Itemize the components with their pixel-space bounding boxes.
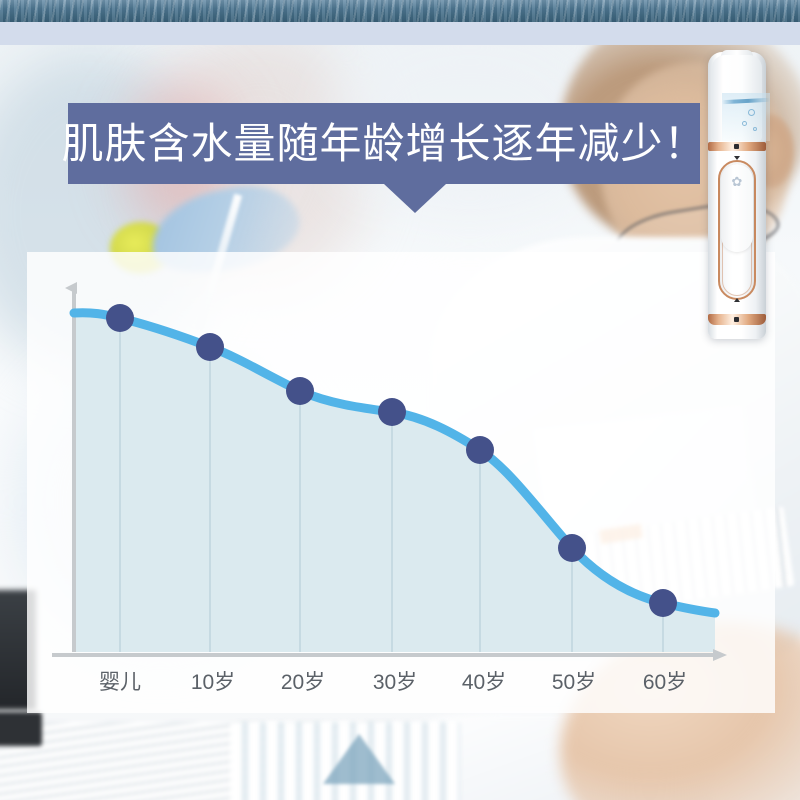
water-bubble xyxy=(748,109,755,116)
water-bubble xyxy=(742,121,747,126)
ring-dot xyxy=(734,317,739,322)
hydration-area-chart xyxy=(0,0,800,800)
data-point-marker[interactable] xyxy=(378,398,406,426)
water-level-line xyxy=(722,98,770,105)
water-bubble xyxy=(753,127,757,131)
data-point-marker[interactable] xyxy=(466,436,494,464)
data-point-marker[interactable] xyxy=(196,333,224,361)
chart-area-fill xyxy=(74,313,715,652)
product-image: ✿ xyxy=(703,52,771,339)
product-trim-ring-top xyxy=(708,142,766,151)
data-point-marker[interactable] xyxy=(286,377,314,405)
page-root: 肌肤含水量随年龄增长逐年减少！ xyxy=(0,0,800,800)
product-cap xyxy=(712,55,762,141)
water-tank xyxy=(722,93,770,141)
product-logo-icon: ✿ xyxy=(727,174,747,190)
product-trim-ring-bottom xyxy=(708,314,766,325)
data-point-marker[interactable] xyxy=(558,534,586,562)
data-point-marker[interactable] xyxy=(649,589,677,617)
ring-dot xyxy=(734,144,739,149)
data-point-marker[interactable] xyxy=(106,304,134,332)
